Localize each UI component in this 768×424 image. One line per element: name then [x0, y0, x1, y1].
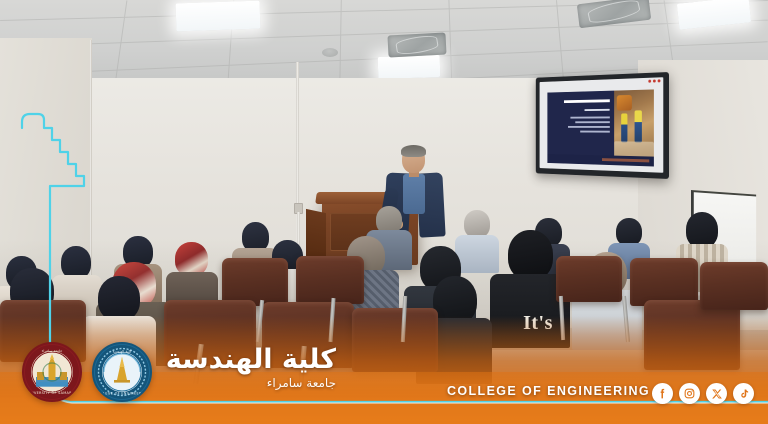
samarra-seal-artwork: UNIVERSITY OF SAMARRA جامعة سامراء	[24, 344, 80, 400]
audience-member: It's	[492, 230, 566, 340]
university-of-samarra-logo: UNIVERSITY OF SAMARRA جامعة سامراء	[22, 342, 82, 402]
presenter-hair	[401, 145, 426, 157]
svg-text:COLLEGE OF ENGINEERING: COLLEGE OF ENGINEERING	[95, 392, 149, 396]
slide-text-column	[547, 91, 614, 157]
auditorium-chair	[630, 258, 698, 306]
engineering-seal-artwork: COLLEGE OF ENGINEERING كلية الهندسة	[94, 344, 150, 400]
x-twitter-icon[interactable]	[706, 383, 727, 404]
brand-english-label: COLLEGE OF ENGINEERING	[447, 384, 650, 398]
screen-surface	[540, 77, 664, 173]
social-links	[652, 383, 754, 404]
facebook-icon[interactable]	[652, 383, 673, 404]
brand-arabic-secondary: جامعة سامراء	[156, 375, 336, 392]
ceiling-light	[176, 1, 261, 32]
auditorium-chair	[700, 262, 768, 310]
wall-conduit	[296, 62, 299, 212]
svg-text:كلية الهندسة: كلية الهندسة	[113, 350, 132, 354]
instagram-icon[interactable]	[679, 383, 700, 404]
tiktok-icon[interactable]	[733, 383, 754, 404]
presentation-screen	[536, 72, 669, 179]
slide-title-line	[564, 100, 610, 104]
ceiling-light	[378, 55, 441, 79]
auditorium-chair	[222, 258, 288, 306]
banner-canvas: It's	[0, 0, 768, 424]
auditorium-chair	[296, 256, 364, 304]
air-diffuser	[387, 32, 446, 57]
svg-text:UNIVERSITY OF SAMARRA: UNIVERSITY OF SAMARRA	[27, 391, 77, 395]
audience-member	[166, 242, 218, 304]
auditorium-chair	[352, 308, 438, 372]
slide-content	[547, 90, 653, 158]
college-of-engineering-logo: COLLEGE OF ENGINEERING كلية الهندسة	[92, 342, 152, 402]
brand-arabic-primary: كلية الهندسة	[156, 345, 336, 375]
svg-text:جامعة سامراء: جامعة سامراء	[42, 349, 63, 353]
auditorium-chair	[644, 300, 740, 370]
smoke-detector	[322, 48, 338, 57]
auditorium-chair	[556, 256, 622, 302]
brand-arabic-block: كلية الهندسة جامعة سامراء	[156, 345, 336, 401]
slide-photo	[614, 90, 653, 158]
screen-indicator-leds	[648, 79, 660, 82]
slide-footer-strip	[547, 154, 653, 167]
